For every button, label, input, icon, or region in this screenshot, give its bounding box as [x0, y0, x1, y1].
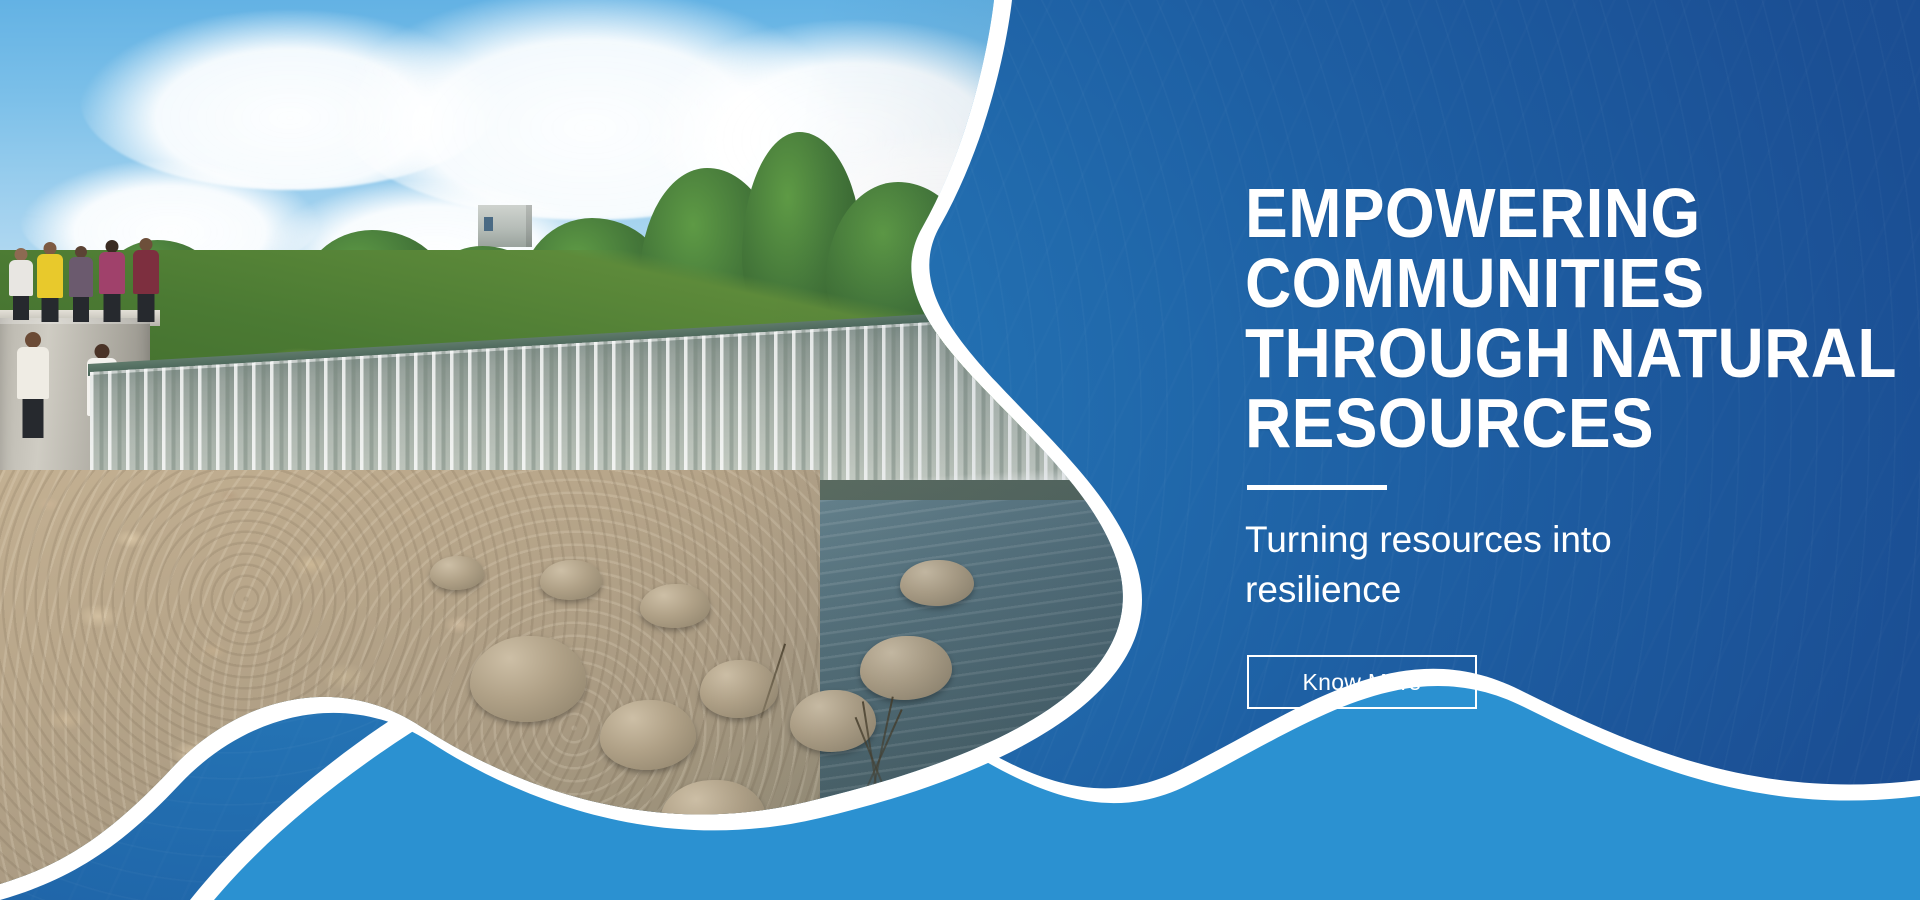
headline-line-3: THROUGH NATURAL — [1245, 318, 1849, 388]
hero-content: EMPOWERING COMMUNITIES THROUGH NATURAL R… — [1245, 0, 1905, 900]
headline-line-2: COMMUNITIES — [1245, 248, 1849, 318]
hero-banner: EMPOWERING COMMUNITIES THROUGH NATURAL R… — [0, 0, 1920, 900]
title-divider — [1247, 485, 1387, 490]
headline-line-4: RESOURCES — [1245, 388, 1849, 458]
headline-line-1: EMPOWERING — [1245, 178, 1849, 248]
page-title: EMPOWERING COMMUNITIES THROUGH NATURAL R… — [1245, 178, 1849, 458]
hero-subtitle: Turning resources into resilience — [1245, 515, 1745, 615]
hero-photo-region — [0, 0, 1180, 900]
know-more-button[interactable]: Know More — [1247, 655, 1477, 709]
